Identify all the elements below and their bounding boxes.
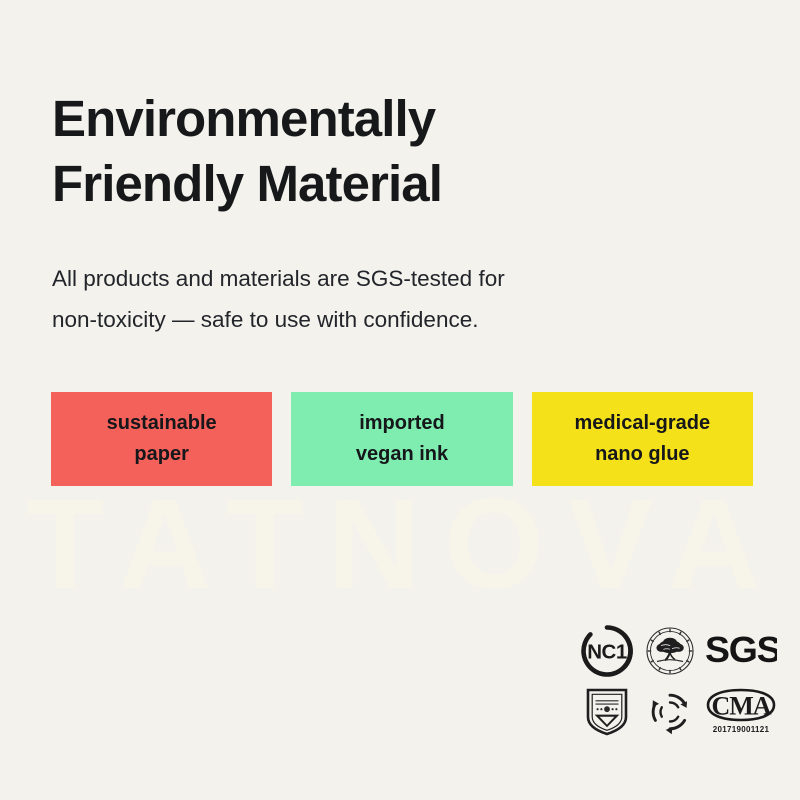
chip-label-line-2: paper bbox=[134, 439, 188, 470]
material-chip-row: sustainable paper imported vegan ink med… bbox=[51, 392, 753, 486]
page-title: Environmentally Friendly Material bbox=[52, 86, 732, 216]
recycling-badge bbox=[638, 682, 702, 742]
shield-certification-badge bbox=[576, 682, 638, 742]
sgs-icon: SGS bbox=[705, 630, 777, 672]
material-chip-sustainable-paper: sustainable paper bbox=[51, 392, 272, 486]
page-title-line-2: Friendly Material bbox=[52, 151, 732, 216]
forest-seal-badge bbox=[638, 620, 702, 682]
page-title-line-1: Environmentally bbox=[52, 86, 732, 151]
cma-icon: CMA 201719001121 bbox=[704, 686, 778, 738]
nc1-certification-badge: NC1 bbox=[576, 620, 638, 682]
chip-label-line-1: imported bbox=[359, 408, 445, 439]
chip-label-line-2: vegan ink bbox=[356, 439, 448, 470]
svg-text:SGS: SGS bbox=[705, 630, 777, 670]
svg-text:NC1: NC1 bbox=[587, 641, 627, 664]
chip-label-line-1: sustainable bbox=[107, 408, 217, 439]
page-subtitle-line-2: non-toxicity — safe to use with confiden… bbox=[52, 299, 692, 340]
page-subtitle-line-1: All products and materials are SGS-teste… bbox=[52, 258, 692, 299]
tree-seal-icon bbox=[645, 626, 695, 676]
material-chip-medical-grade-nano-glue: medical-grade nano glue bbox=[532, 392, 753, 486]
material-chip-imported-vegan-ink: imported vegan ink bbox=[291, 392, 512, 486]
certification-badge-grid: NC1 bbox=[576, 620, 784, 742]
cma-certification-badge: CMA 201719001121 bbox=[702, 682, 780, 742]
shield-icon bbox=[584, 686, 630, 738]
cma-number: 201719001121 bbox=[713, 725, 770, 734]
sgs-certification-badge: SGS bbox=[702, 620, 780, 682]
brand-watermark: TATNOVA bbox=[26, 480, 786, 610]
recycle-icon bbox=[646, 688, 694, 736]
poster-canvas: TATNOVA Environmentally Friendly Materia… bbox=[0, 0, 800, 800]
chip-label-line-1: medical-grade bbox=[575, 408, 711, 439]
chip-label-line-2: nano glue bbox=[595, 439, 689, 470]
nc1-icon: NC1 bbox=[580, 624, 634, 678]
svg-text:CMA: CMA bbox=[711, 692, 771, 721]
page-subtitle: All products and materials are SGS-teste… bbox=[52, 258, 692, 340]
